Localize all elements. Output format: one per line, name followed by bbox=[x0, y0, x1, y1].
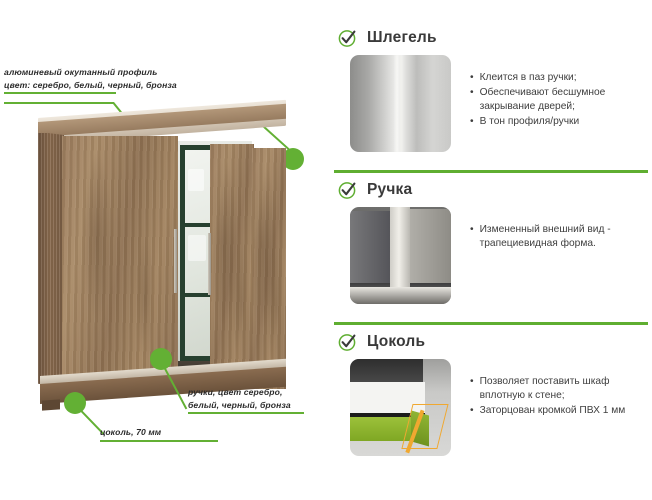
handle-photo-right-panel bbox=[409, 209, 451, 283]
mirror-frame-left bbox=[180, 145, 185, 361]
bullet-marker: • bbox=[470, 115, 474, 129]
feature-card-cokol[interactable]: Цоколь • Позволяет поставить шкаф вплотн… bbox=[330, 332, 652, 456]
list-item: • Позволяет поставить шкаф вплотную к ст… bbox=[470, 375, 652, 402]
callout-handles: ручки, цвет серебро, белый, черный, брон… bbox=[188, 386, 304, 414]
handle-photo bbox=[350, 207, 451, 304]
card-bullets-shlegel: • Клеится в паз ручки; • Обеспечивают бе… bbox=[470, 55, 652, 130]
slide-root: алюминевый окутанный профиль цвет: сереб… bbox=[0, 0, 652, 500]
check-circle-icon bbox=[338, 332, 358, 352]
handle-photo-floor bbox=[350, 287, 451, 304]
bullet-text: Обеспечивают бесшумное закрывание дверей… bbox=[480, 86, 652, 113]
card-divider-2 bbox=[334, 322, 648, 325]
bullet-text: Позволяет поставить шкаф вплотную к стен… bbox=[480, 375, 652, 402]
wardrobe-illustration-panel: алюминевый окутанный профиль цвет: сереб… bbox=[0, 0, 330, 500]
card-divider-1 bbox=[334, 170, 648, 173]
wardrobe-side-right bbox=[252, 148, 286, 389]
brush-seal-photo bbox=[350, 55, 451, 152]
handle-photo-post bbox=[390, 207, 410, 287]
list-item: • Заторцован кромкой ПВХ 1 мм bbox=[470, 404, 652, 418]
list-item: • В тон профиля/ручки bbox=[470, 115, 652, 129]
plinth-photo-top bbox=[350, 359, 423, 384]
features-panel: Шлегель • Клеится в паз ручки; • Обеспеч… bbox=[330, 0, 652, 500]
bullet-text: Заторцован кромкой ПВХ 1 мм bbox=[480, 404, 626, 418]
feature-card-ruchka[interactable]: Ручка • Измененный внешний вид - трапеци… bbox=[330, 180, 652, 304]
card-title-cokol: Цоколь bbox=[367, 333, 425, 351]
card-header-ruchka: Ручка bbox=[330, 180, 652, 200]
bullet-marker: • bbox=[470, 223, 474, 250]
bullet-marker: • bbox=[470, 375, 474, 402]
callout-profile-leader-h bbox=[4, 102, 114, 104]
callout-profile: алюминевый окутанный профиль цвет: сереб… bbox=[4, 66, 304, 94]
callout-profile-line1: алюминевый окутанный профиль bbox=[4, 66, 304, 79]
plinth-photo bbox=[350, 359, 451, 456]
wardrobe-side-panel bbox=[38, 133, 64, 387]
callout-profile-line2: цвет: серебро, белый, черный, бронза bbox=[4, 79, 304, 92]
wardrobe-handle-left bbox=[174, 229, 177, 293]
callout-handles-line2: белый, черный, бронза bbox=[188, 399, 304, 412]
bullet-marker: • bbox=[470, 404, 474, 418]
list-item: • Клеится в паз ручки; bbox=[470, 71, 652, 85]
bullet-marker: • bbox=[470, 86, 474, 113]
wardrobe-door-right bbox=[210, 144, 254, 389]
card-bullets-ruchka: • Измененный внешний вид - трапециевидна… bbox=[470, 207, 652, 252]
callout-handles-underline bbox=[188, 412, 304, 414]
check-circle-icon bbox=[338, 28, 358, 48]
bullet-text: Измененный внешний вид - трапециевидная … bbox=[480, 223, 652, 250]
bullet-marker: • bbox=[470, 71, 474, 85]
mirror-highlight-1 bbox=[188, 169, 204, 191]
wardrobe-foot bbox=[42, 399, 60, 410]
callout-plinth-underline bbox=[100, 440, 218, 442]
card-title-shlegel: Шлегель bbox=[367, 29, 437, 47]
card-header-cokol: Цоколь bbox=[330, 332, 652, 352]
card-title-ruchka: Ручка bbox=[367, 181, 412, 199]
callout-profile-underline bbox=[4, 92, 116, 94]
feature-card-shlegel[interactable]: Шлегель • Клеится в паз ручки; • Обеспеч… bbox=[330, 28, 652, 152]
callout-plinth-line1: цоколь, 70 мм bbox=[100, 426, 218, 439]
callout-handles-line1: ручки, цвет серебро, bbox=[188, 386, 304, 399]
callout-plinth: цоколь, 70 мм bbox=[100, 426, 218, 442]
card-body-cokol: • Позволяет поставить шкаф вплотную к ст… bbox=[330, 359, 652, 456]
card-header-shlegel: Шлегель bbox=[330, 28, 652, 48]
list-item: • Измененный внешний вид - трапециевидна… bbox=[470, 223, 652, 250]
wardrobe-handle-right bbox=[208, 233, 211, 295]
card-bullets-cokol: • Позволяет поставить шкаф вплотную к ст… bbox=[470, 359, 652, 419]
card-body-shlegel: • Клеится в паз ручки; • Обеспечивают бе… bbox=[330, 55, 652, 152]
card-body-ruchka: • Измененный внешний вид - трапециевидна… bbox=[330, 207, 652, 304]
check-circle-icon bbox=[338, 180, 358, 200]
bullet-text: Клеится в паз ручки; bbox=[480, 71, 577, 85]
list-item: • Обеспечивают бесшумное закрывание двер… bbox=[470, 86, 652, 113]
handle-photo-left-panel bbox=[350, 211, 390, 283]
bullet-text: В тон профиля/ручки bbox=[480, 115, 580, 129]
mirror-highlight-2 bbox=[188, 235, 206, 261]
